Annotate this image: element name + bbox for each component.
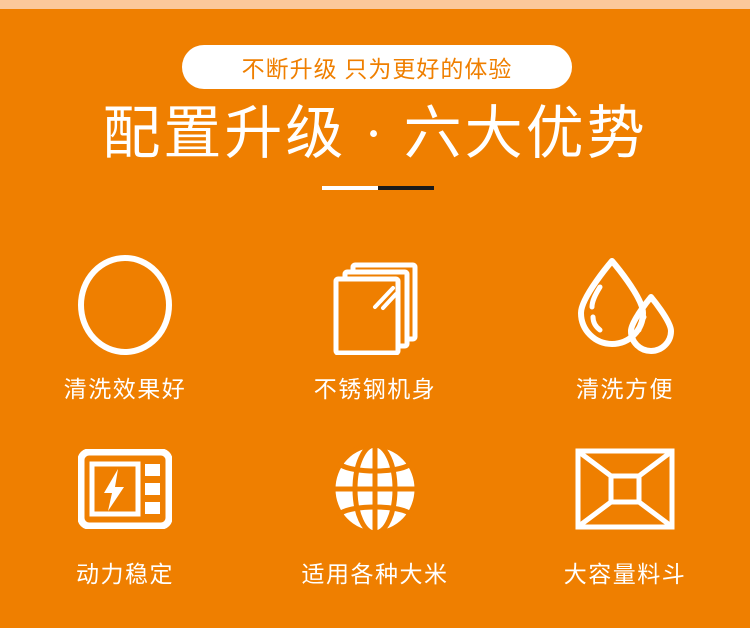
water-droplets-icon: [575, 255, 675, 355]
feature-label: 不锈钢机身: [314, 370, 437, 404]
feature-label: 大容量料斗: [564, 555, 687, 589]
top-accent-strip: [0, 0, 750, 9]
icon-container: [78, 439, 172, 539]
divider-segment-white: [322, 186, 378, 190]
page-title: 配置升级 · 六大优势: [0, 99, 750, 169]
icon-container: [331, 439, 419, 539]
tagline-badge-text: 不断升级 只为更好的体验: [242, 50, 513, 84]
icon-container: [325, 250, 425, 360]
feature-label: 清洗效果好: [64, 370, 187, 404]
feature-item: 清洗效果好: [0, 250, 250, 439]
feature-item: 适用各种大米: [250, 439, 500, 628]
feature-item: 不锈钢机身: [250, 250, 500, 439]
feature-label: 适用各种大米: [302, 555, 449, 589]
feature-item: 大容量料斗: [500, 439, 750, 628]
globe-icon: [331, 444, 419, 534]
tagline-badge: 不断升级 只为更好的体验: [182, 45, 572, 89]
feature-label: 动力稳定: [76, 555, 174, 589]
feature-item: 清洗方便: [500, 250, 750, 439]
promo-banner: 不断升级 只为更好的体验 配置升级 · 六大优势 清洗效果好: [0, 0, 750, 628]
divider-segment-black: [378, 186, 434, 190]
divider: [322, 186, 434, 190]
feature-label: 清洗方便: [576, 370, 674, 404]
feature-item: 动力稳定: [0, 439, 250, 628]
icon-container: [575, 250, 675, 360]
icon-container: [75, 250, 175, 360]
circle-ring-icon: [75, 255, 175, 355]
icon-container: [575, 439, 675, 539]
hopper-funnel-icon: [575, 448, 675, 530]
stacked-steel-sheets-icon: [325, 255, 425, 355]
feature-grid: 清洗效果好 不锈钢机身: [0, 250, 750, 628]
power-panel-lightning-icon: [78, 449, 172, 529]
